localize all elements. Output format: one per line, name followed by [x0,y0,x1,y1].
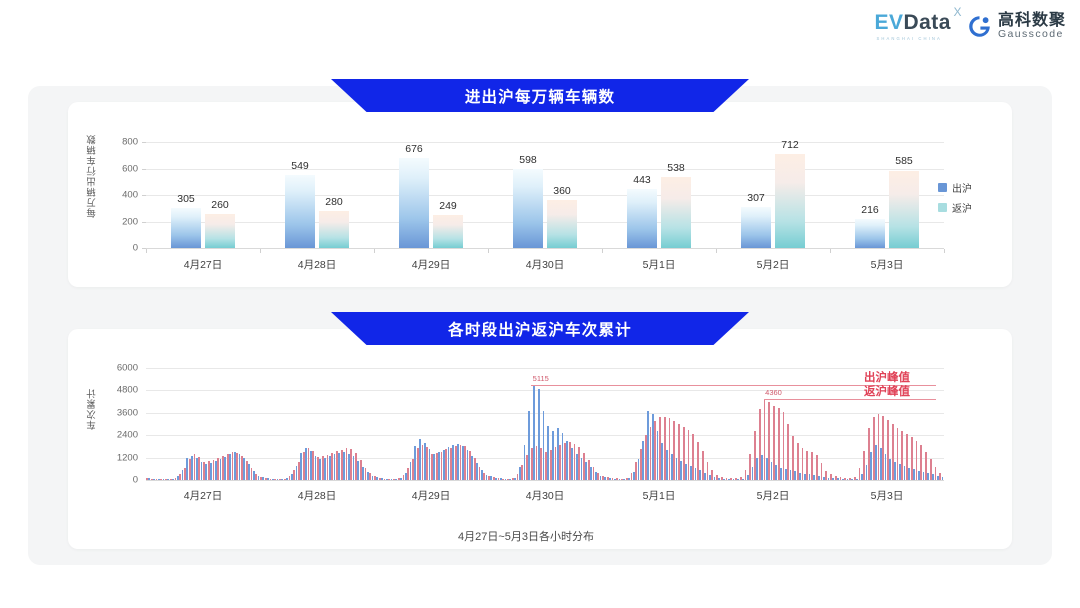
chart1-y-tick-label: 400 [100,190,138,201]
chart1-x-tick-label: 4月28日 [298,257,337,272]
chart1-title-banner: 进出沪每万辆车辆数 [331,79,749,112]
chart1-x-tick-label: 5月2日 [757,257,790,272]
chart1-y-tick-label: 200 [100,216,138,227]
evdata-tagline: SHANGHAI CHINA [876,36,941,41]
bar-chart-vehicle-counts: 每万辆出行车辆数 0200400600800 30526054928067624… [86,120,966,280]
chart1-x-tick-label: 5月3日 [871,257,904,272]
chart1-gridline [146,248,944,249]
chart1-bar-value-label: 360 [553,185,571,197]
chart2-y-tick-label: 6000 [98,363,138,374]
evdata-wordmark: EVDataX [874,12,951,33]
chart2-gridline [146,435,944,436]
chart1-bar[interactable] [889,171,919,249]
chart2-peak-value-label: 5115 [533,374,549,383]
chart2-hour-bar[interactable] [942,477,944,480]
bar-chart-hourly-trips: 车次累计 012002400360048006000 5115出沪峰值4360返… [86,358,966,506]
chart1-bar[interactable] [399,158,429,248]
gausscode-name-cn: 高科数聚 [998,13,1066,30]
chart1-bar-value-label: 443 [633,174,651,186]
chart2-y-tick-label: 3600 [98,407,138,418]
chart2-x-tick-label: 4月28日 [298,488,337,503]
chart1-bar-value-label: 305 [177,193,195,205]
chart1-bar-value-label: 260 [211,199,229,211]
evdata-prefix: EV [874,11,903,34]
chart1-legend-swatch [938,203,947,212]
chart1-bar-value-label: 538 [667,162,685,174]
chart1-gridline [146,222,944,223]
gausscode-name-en: Gausscode [998,29,1066,40]
chart1-bar[interactable] [741,207,771,248]
chart1-bar[interactable] [319,211,349,248]
chart1-legend-label: 返沪 [952,200,972,215]
brand-logo-bar: EVDataX SHANGHAI CHINA 高科数聚 Gausscode [874,12,1066,41]
chart2-gridline [146,480,944,481]
chart1-bar[interactable] [661,177,691,248]
chart1-legend: 出沪返沪 [938,180,972,215]
chart1-legend-label: 出沪 [952,180,972,195]
chart2-y-tick-label: 0 [98,475,138,486]
chart1-y-tick-mark [142,222,146,223]
chart1-x-tick-mark [374,249,375,253]
chart2-peak-annotation-label: 返沪峰值 [864,383,910,399]
chart2-peak-value-label: 4360 [765,388,782,397]
chart1-bar-value-label: 216 [861,204,879,216]
chart2-y-tick-label: 1200 [98,452,138,463]
chart2-x-tick-label: 5月3日 [871,488,904,503]
chart1-bar[interactable] [775,154,805,248]
chart1-y-tick-mark [142,169,146,170]
chart2-gridline [146,390,944,391]
chart2-x-tick-label: 4月27日 [184,488,223,503]
chart1-legend-item[interactable]: 返沪 [938,200,972,215]
chart2-x-axis-caption: 4月27日~5月3日各小时分布 [458,528,594,544]
gausscode-mark-icon [967,14,992,39]
chart1-bar-value-label: 249 [439,200,457,212]
chart1-x-tick-mark [830,249,831,253]
chart2-x-tick-label: 5月1日 [643,488,676,503]
chart2-y-tick-label: 2400 [98,430,138,441]
chart2-y-tick-label: 4800 [98,385,138,396]
chart2-x-tick-label: 4月29日 [412,488,451,503]
chart1-bar-value-label: 598 [519,154,537,166]
chart1-bar-value-label: 307 [747,192,765,204]
chart2-title: 各时段出沪返沪车次累计 [448,318,632,340]
chart1-y-tick-mark [142,195,146,196]
chart2-gridline [146,368,944,369]
chart2-x-tick-label: 5月2日 [757,488,790,503]
gausscode-logo: 高科数聚 Gausscode [967,13,1066,41]
chart1-y-axis-label: 每万辆出行车辆数 [86,134,100,218]
chart1-bar-value-label: 712 [781,139,799,151]
chart1-gridline [146,195,944,196]
chart1-bar[interactable] [627,189,657,248]
chart1-gridline [146,169,944,170]
chart1-gridline [146,142,944,143]
chart1-legend-swatch [938,183,947,192]
chart1-bar-value-label: 676 [405,143,423,155]
chart1-bar-value-label: 585 [895,155,913,167]
dashboard-page: EVDataX SHANGHAI CHINA 高科数聚 Gausscode 进出… [0,0,1080,608]
chart1-x-tick-mark [944,249,945,253]
evdata-suffix: Data [903,11,951,34]
chart2-x-tick-label: 4月30日 [526,488,565,503]
evdata-superscript: X [953,6,962,18]
chart1-y-tick-label: 800 [100,137,138,148]
chart2-peak-line [764,399,937,400]
chart1-x-tick-label: 4月27日 [184,257,223,272]
chart1-bar-value-label: 549 [291,160,309,172]
chart2-gridline [146,413,944,414]
chart1-bar[interactable] [547,200,577,248]
chart1-bar-value-label: 280 [325,196,343,208]
chart1-x-tick-label: 4月30日 [526,257,565,272]
chart1-title: 进出沪每万辆车辆数 [465,85,615,107]
chart1-x-tick-mark [716,249,717,253]
chart1-y-tick-mark [142,142,146,143]
chart1-x-tick-mark [146,249,147,253]
chart1-bar[interactable] [171,208,201,248]
chart1-bar[interactable] [285,175,315,248]
chart1-bar[interactable] [513,169,543,248]
chart1-x-tick-mark [602,249,603,253]
chart1-bar[interactable] [205,214,235,248]
evdata-logo: EVDataX SHANGHAI CHINA [874,12,951,41]
chart1-y-tick-label: 600 [100,163,138,174]
chart1-x-tick-label: 5月1日 [643,257,676,272]
chart1-y-tick-label: 0 [100,243,138,254]
chart2-title-banner: 各时段出沪返沪车次累计 [331,312,749,345]
chart1-bar[interactable] [855,219,885,248]
chart1-x-tick-label: 4月29日 [412,257,451,272]
chart1-legend-item[interactable]: 出沪 [938,180,972,195]
chart1-x-tick-mark [260,249,261,253]
chart1-bar[interactable] [433,215,463,248]
chart1-x-tick-mark [488,249,489,253]
